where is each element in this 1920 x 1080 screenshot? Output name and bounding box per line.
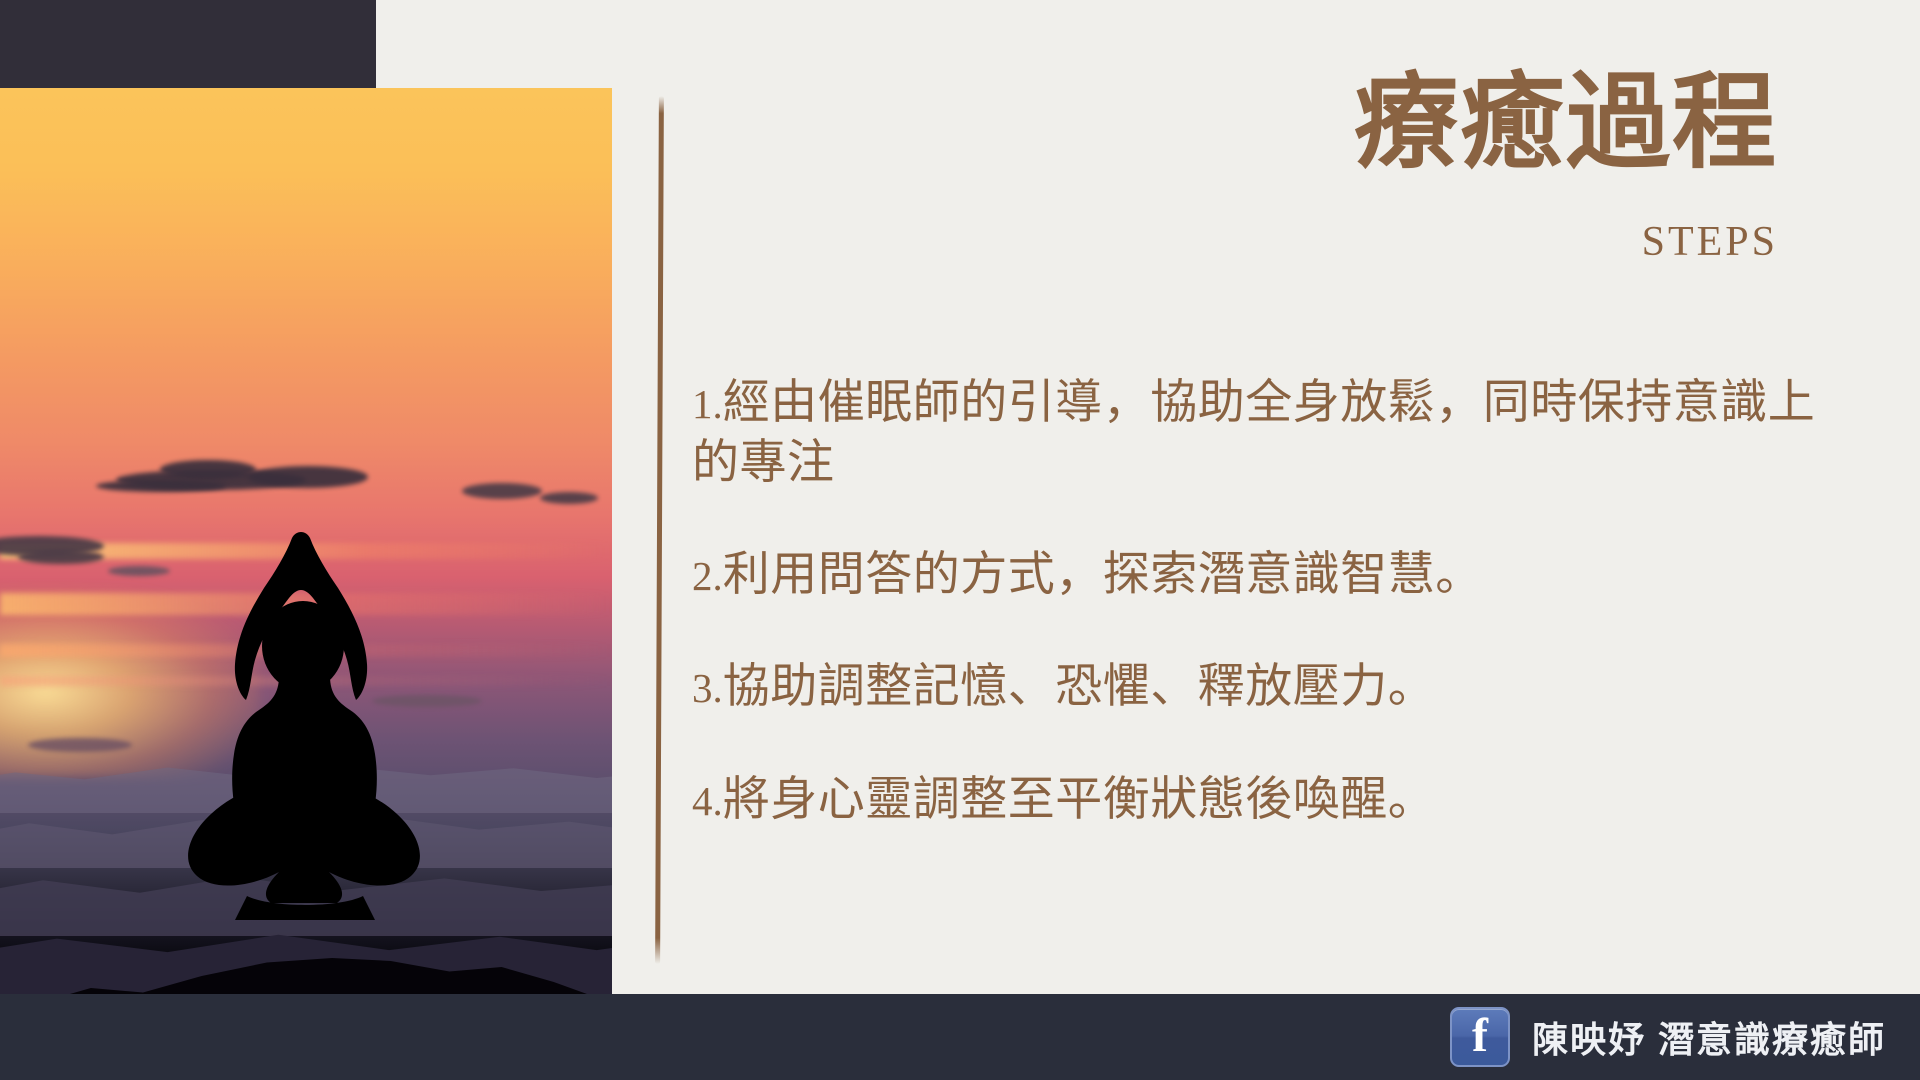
- step-text: 經由催眠師的引導，協助全身放鬆，同時保持意識上的專注: [692, 375, 1815, 488]
- slide-canvas: 療癒過程 STEPS 1.經由催眠師的引導，協助全身放鬆，同時保持意識上的專注 …: [0, 0, 1920, 1080]
- cloud: [540, 492, 598, 504]
- step-number: 4.: [692, 778, 723, 824]
- step-text: 將身心靈調整至平衡狀態後喚醒。: [723, 772, 1436, 825]
- step-number: 2.: [692, 553, 723, 599]
- page-subtitle: STEPS: [700, 218, 1778, 266]
- step-text: 利用問答的方式，探索潛意識智慧。: [723, 547, 1483, 600]
- meditating-person-silhouette: [175, 528, 445, 988]
- step-item: 3.協助調整記憶、恐懼、釋放壓力。: [692, 656, 1862, 716]
- step-item: 4.將身心靈調整至平衡狀態後喚醒。: [692, 769, 1862, 829]
- page-title: 療癒過程: [700, 66, 1778, 180]
- step-text: 協助調整記憶、恐懼、釋放壓力。: [723, 659, 1436, 712]
- step-number: 3.: [692, 665, 723, 711]
- step-item: 2.利用問答的方式，探索潛意識智慧。: [692, 544, 1862, 604]
- corner-accent-block: [0, 0, 376, 88]
- vertical-brush-divider: [655, 96, 664, 964]
- sunset-meditation-photo: [0, 88, 612, 994]
- cloud: [96, 480, 226, 492]
- facebook-page-name[interactable]: 陳映妤 潛意識療癒師: [1532, 1011, 1886, 1063]
- cloud: [18, 550, 104, 564]
- cloud: [108, 566, 170, 576]
- cloud: [160, 460, 256, 479]
- step-number: 1.: [692, 381, 723, 427]
- footer-bar: 陳映妤 潛意識療癒師: [0, 994, 1920, 1080]
- cloud: [462, 483, 542, 499]
- steps-list: 1.經由催眠師的引導，協助全身放鬆，同時保持意識上的專注 2.利用問答的方式，探…: [692, 372, 1862, 829]
- cloud: [28, 738, 132, 752]
- facebook-icon[interactable]: [1450, 1007, 1510, 1067]
- step-item: 1.經由催眠師的引導，協助全身放鬆，同時保持意識上的專注: [692, 372, 1862, 492]
- cloud: [248, 466, 368, 488]
